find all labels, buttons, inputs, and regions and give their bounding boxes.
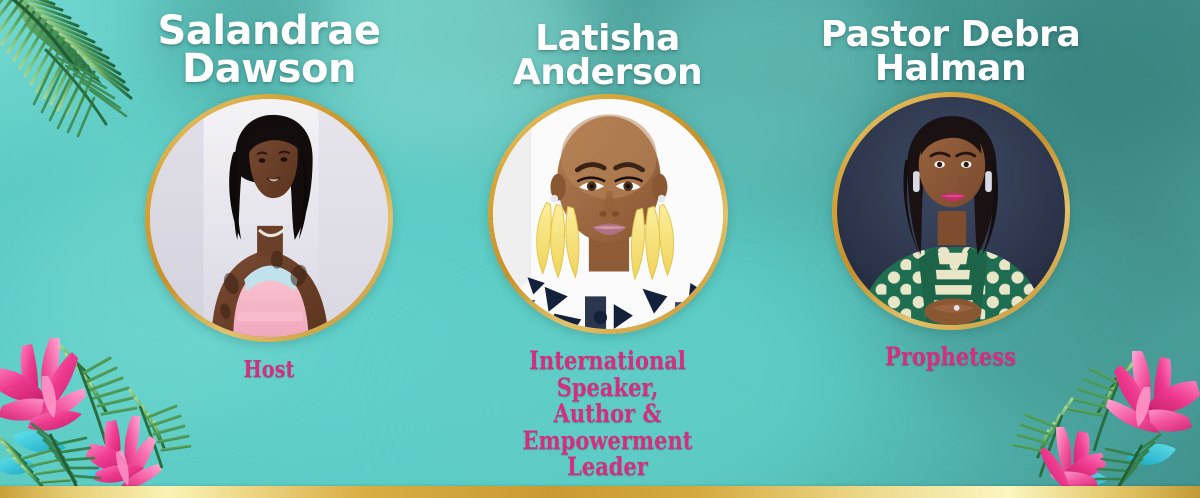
speaker-name-line2: Anderson — [455, 56, 760, 90]
speaker-card-pastor-debra-halman: Pastor Debra Halman — [768, 0, 1133, 371]
speaker-card-salandrae-dawson: Salandrae Dawson — [78, 0, 460, 382]
speaker-role: Host — [109, 342, 430, 382]
speaker-name: Salandrae Dawson — [78, 0, 460, 88]
speaker-card-latisha-anderson: Latisha Anderson — [455, 0, 760, 481]
portrait-image-pastor-debra-halman — [837, 97, 1065, 325]
speaker-role: International Speaker, Author & Empowerm… — [479, 334, 735, 481]
speaker-name: Pastor Debra Halman — [768, 0, 1133, 86]
gold-bottom-border — [0, 486, 1200, 498]
portrait-image-salandrae-dawson — [150, 99, 388, 337]
speaker-name-line1: Salandrae — [78, 12, 460, 50]
portrait-image-latisha-anderson — [493, 99, 723, 329]
speaker-name-line2: Halman — [768, 52, 1133, 86]
poster-canvas: Salandrae Dawson — [0, 0, 1200, 498]
speaker-role: Prophetess — [797, 330, 1104, 371]
portrait-ring — [488, 94, 728, 334]
speaker-name: Latisha Anderson — [455, 0, 760, 90]
portrait-ring — [832, 92, 1070, 330]
speakers-row: Salandrae Dawson — [0, 0, 1200, 498]
portrait-ring — [145, 94, 393, 342]
speaker-name-line2: Dawson — [78, 50, 460, 88]
